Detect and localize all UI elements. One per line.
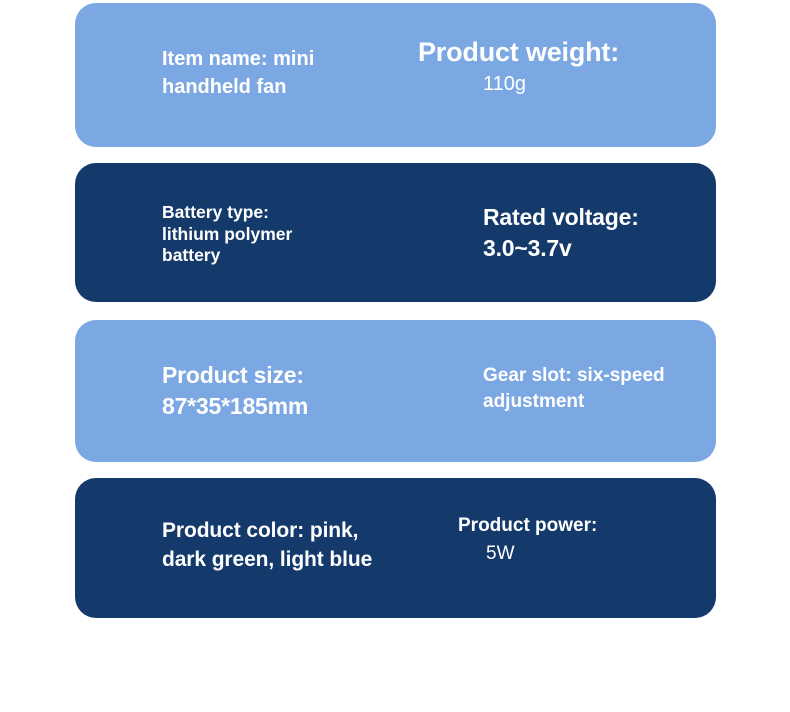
spec-card-battery: Battery type: lithium polymer battery Ra… (75, 163, 716, 302)
spec-product-size-label: Product size: (162, 360, 308, 391)
spec-battery-type-label-line3: battery (162, 245, 292, 267)
spec-product-power-value: 5W (458, 539, 597, 569)
spec-product-size-value: 87*35*185mm (162, 391, 308, 422)
spec-item-name-label: Item name: mini (162, 45, 314, 73)
spec-item-name-label-line2: handheld fan (162, 73, 314, 101)
spec-card-body: Battery type: lithium polymer battery Ra… (75, 163, 716, 302)
spec-battery-type-label-line2: lithium polymer (162, 224, 292, 246)
spec-rated-voltage-value: 3.0~3.7v (483, 233, 639, 264)
spec-product-power-group: Product power: 5W (458, 512, 597, 569)
spec-battery-type-label: Battery type: (162, 202, 292, 224)
spec-card-size: Product size: 87*35*185mm Gear slot: six… (75, 320, 716, 462)
spec-rated-voltage-label: Rated voltage: (483, 202, 639, 233)
spec-product-weight-value: 110g (418, 69, 619, 99)
spec-product-power-label: Product power: (458, 512, 597, 539)
spec-rated-voltage-group: Rated voltage: 3.0~3.7v (483, 202, 639, 264)
spec-card-body: Item name: mini handheld fan Product wei… (75, 3, 716, 147)
spec-gear-slot-label: Gear slot: six-speed (483, 363, 665, 389)
spec-gear-slot-group: Gear slot: six-speed adjustment (483, 363, 665, 415)
spec-card-item-name: Item name: mini handheld fan Product wei… (75, 3, 716, 147)
spec-gear-slot-value: adjustment (483, 389, 665, 415)
spec-card-color: Product color: pink, dark green, light b… (75, 478, 716, 618)
product-spec-sheet: Item name: mini handheld fan Product wei… (0, 0, 790, 712)
spec-card-body: Product color: pink, dark green, light b… (75, 478, 716, 618)
spec-card-body: Product size: 87*35*185mm Gear slot: six… (75, 320, 716, 462)
spec-item-name-group: Item name: mini handheld fan (162, 45, 314, 101)
spec-product-color-label-line2: dark green, light blue (162, 545, 372, 574)
spec-product-color-label: Product color: pink, (162, 516, 372, 545)
spec-product-color-group: Product color: pink, dark green, light b… (162, 516, 372, 574)
spec-battery-type-group: Battery type: lithium polymer battery (162, 202, 292, 267)
spec-product-size-group: Product size: 87*35*185mm (162, 360, 308, 422)
spec-product-weight-label: Product weight: (418, 35, 619, 69)
spec-product-weight-group: Product weight: 110g (418, 35, 619, 99)
